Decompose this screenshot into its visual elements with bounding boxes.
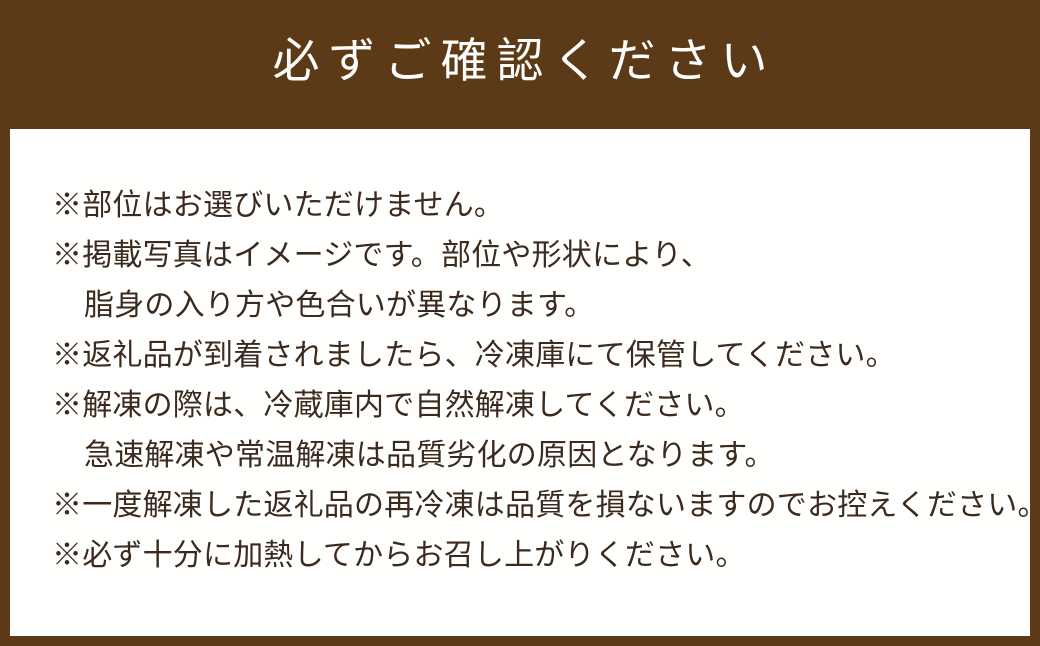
notice-card: 必ずご確認ください ※部位はお選びいただけません。※掲載写真はイメージです。部位… bbox=[0, 0, 1040, 646]
notice-list: ※部位はお選びいただけません。※掲載写真はイメージです。部位や形状により、脂身の… bbox=[52, 181, 1020, 581]
notice-header-band: 必ずご確認ください bbox=[0, 0, 1040, 129]
page-title: 必ずご確認ください bbox=[264, 39, 777, 90]
notice-line: ※一度解凍した返礼品の再冷凍は品質を損ないますのでお控えください。 bbox=[52, 481, 1020, 531]
notice-body-panel: ※部位はお選びいただけません。※掲載写真はイメージです。部位や形状により、脂身の… bbox=[10, 129, 1030, 636]
notice-line: ※掲載写真はイメージです。部位や形状により、 bbox=[52, 231, 1020, 281]
notice-line: ※必ず十分に加熱してからお召し上がりください。 bbox=[52, 531, 1020, 581]
notice-line: ※部位はお選びいただけません。 bbox=[52, 181, 1020, 231]
notice-line: 脂身の入り方や色合いが異なります。 bbox=[52, 281, 1020, 331]
notice-line: 急速解凍や常温解凍は品質劣化の原因となります。 bbox=[52, 431, 1020, 481]
notice-line: ※解凍の際は、冷蔵庫内で自然解凍してください。 bbox=[52, 381, 1020, 431]
notice-line: ※返礼品が到着されましたら、冷凍庫にて保管してください。 bbox=[52, 331, 1020, 381]
